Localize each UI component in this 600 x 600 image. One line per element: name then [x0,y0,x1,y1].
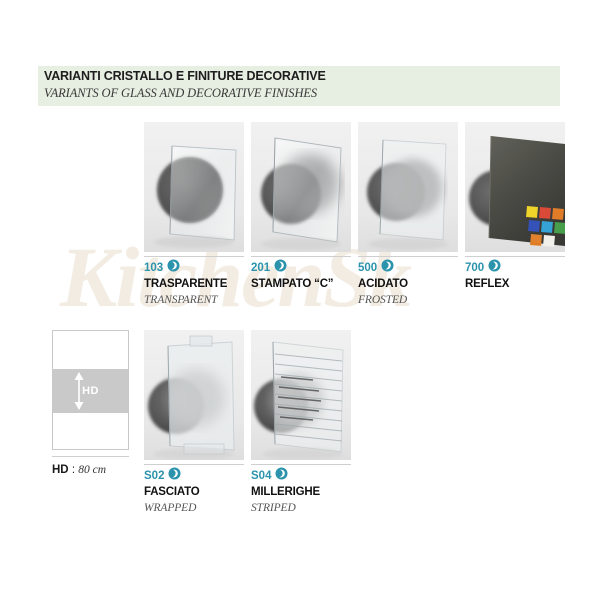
finish-name-it: ACIDATO [358,278,408,290]
glass-sample-icon [381,259,394,277]
finish-name-it: FASCIATO [144,486,199,498]
finish-name-en: STRIPED [251,502,296,514]
finish-code: 201 [251,262,270,274]
page-title: VARIANTI CRISTALLO E FINITURE DECORATIVE [44,69,326,83]
hd-band-label: HD [53,369,128,413]
glass-sample-icon [168,467,181,485]
card-divider [251,256,351,257]
finish-code: 700 [465,262,484,274]
hd-divider [52,456,129,457]
hd-caption-value: 80 cm [78,464,106,476]
finish-name-it: STAMPATO “C” [251,278,333,290]
card-divider [144,256,244,257]
glass-sample-icon [167,259,180,277]
glass-sample-icon [275,467,288,485]
glass-panel-reflex-thumb [465,122,565,252]
hd-caption-separator: : [69,464,79,476]
finish-name-en: TRANSPARENT [144,294,217,306]
card-divider [144,464,244,465]
code-row: S04 [251,468,288,483]
hd-panel-outline: HD [52,330,129,450]
finish-code: 500 [358,262,377,274]
finish-code: S04 [251,470,271,482]
glass-panel-striped-thumb [251,330,351,460]
glass-sample-icon [488,259,501,277]
card-divider [358,256,458,257]
finish-name-it: TRASPARENTE [144,278,227,290]
finish-code: 103 [144,262,163,274]
card-divider [465,256,565,257]
finish-name-en: WRAPPED [144,502,196,514]
code-row: S02 [144,468,181,483]
glass-panel-frosted-thumb [358,122,458,252]
glass-panel-wrapped-thumb [144,330,244,460]
finish-name-it: MILLERIGHE [251,486,320,498]
hd-measure-band: HD [53,369,128,413]
code-row: 201 [251,260,287,275]
finish-code: S02 [144,470,164,482]
finish-name-it: REFLEX [465,278,509,290]
glass-sample-icon [274,259,287,277]
hd-caption-label: HD [52,464,69,476]
code-row: 103 [144,260,180,275]
finish-name-en: FROSTED [358,294,407,306]
section-header-band: VARIANTI CRISTALLO E FINITURE DECORATIVE… [38,66,560,106]
glass-panel-transparent-thumb [144,122,244,252]
hd-caption: HD : 80 cm [52,464,106,476]
code-row: 700 [465,260,501,275]
glass-panel-stampato-thumb [251,122,351,252]
page-subtitle: VARIANTS OF GLASS AND DECORATIVE FINISHE… [44,86,317,101]
code-row: 500 [358,260,394,275]
card-divider [251,464,351,465]
